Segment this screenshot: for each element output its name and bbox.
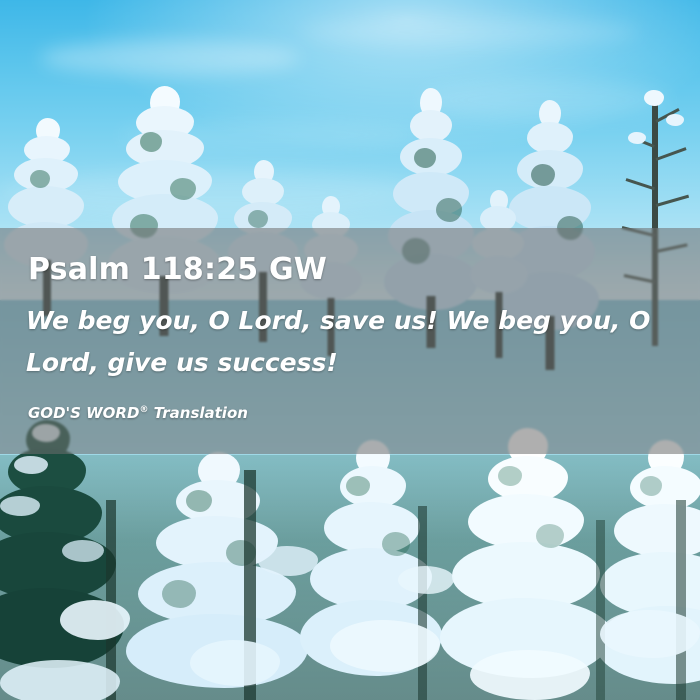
tree-trunk [418,506,427,700]
foreground-conifer [0,420,120,700]
snow-clump [470,650,590,700]
translation-suffix: Translation [148,404,248,422]
cloud-wisp [40,40,300,76]
translation-credit: GOD'S WORD® Translation [28,404,248,422]
cloud-wisp [300,18,640,46]
snow-clump [600,610,700,658]
verse-image: Psalm 118:25 GW We beg you, O Lord, save… [0,0,700,700]
snow-clump [0,660,120,700]
snow-clump [258,546,318,576]
snow-clump [330,620,440,672]
verse-text: We beg you, O Lord, save us! We beg you,… [26,300,666,384]
snow-clump [398,566,454,594]
verse-reference: Psalm 118:25 GW [28,252,327,287]
snow-clump [190,640,280,686]
verse-overlay-panel: Psalm 118:25 GW We beg you, O Lord, save… [0,228,700,454]
translation-name: GOD'S WORD [28,404,139,422]
tree-trunk [596,520,605,700]
tree-trunk [676,500,686,700]
snow-clump [60,600,130,640]
